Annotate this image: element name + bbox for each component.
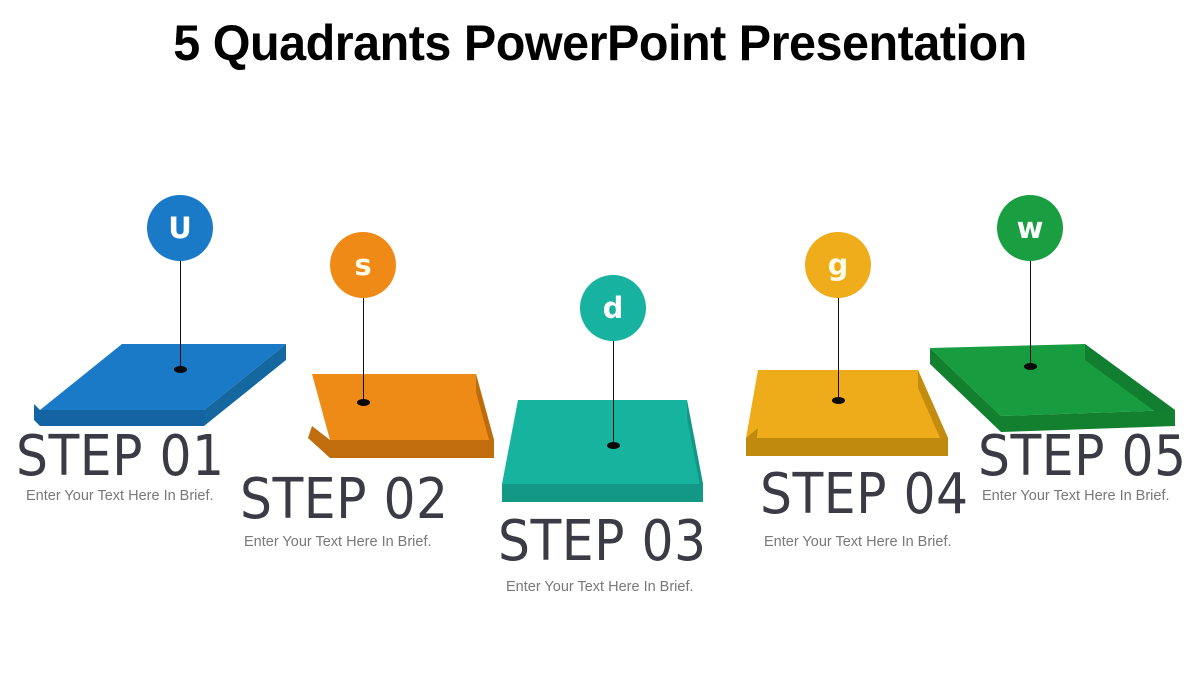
step-3-title: STEP 03: [498, 513, 707, 571]
step-4-connector-line: [838, 288, 839, 401]
step-2-platform: [250, 368, 510, 478]
step-2-platform-front: [330, 440, 494, 458]
step-4-badge[interactable]: g: [805, 232, 871, 298]
step-3-badge[interactable]: d: [580, 275, 646, 341]
step-1-title: STEP 01: [16, 428, 225, 486]
step-3-platform: [500, 396, 740, 511]
step-3-platform-front: [502, 484, 703, 502]
step-3-connector-line: [613, 331, 614, 446]
step-2-description: Enter Your Text Here In Brief.: [244, 533, 432, 551]
step-4-connector-dot: [832, 397, 845, 404]
step-4-platform-front: [746, 438, 948, 456]
step-2-badge-letter: s: [354, 251, 371, 280]
step-2-connector-line: [363, 288, 364, 403]
step-1-description: Enter Your Text Here In Brief.: [26, 487, 214, 505]
step-5-platform-top: [930, 344, 1175, 416]
step-4-badge-letter: g: [828, 251, 849, 280]
step-2-badge[interactable]: s: [330, 232, 396, 298]
step-1-badge[interactable]: U: [147, 195, 213, 261]
step-5-badge-letter: w: [1017, 214, 1044, 243]
step-4-platform-top: [746, 370, 948, 438]
step-5-connector-line: [1030, 249, 1031, 367]
step-3-connector-dot: [607, 442, 620, 449]
step-3-platform-top: [502, 400, 703, 484]
step-5-badge[interactable]: w: [997, 195, 1063, 261]
step-2-title: STEP 02: [240, 471, 449, 529]
slide-canvas: 5 Quadrants PowerPoint Presentation U ST…: [0, 0, 1200, 675]
step-1-badge-letter: U: [168, 214, 192, 243]
step-item-5[interactable]: w STEP 05 Enter Your Text Here In Brief.: [930, 0, 1200, 675]
step-3-description: Enter Your Text Here In Brief.: [506, 578, 694, 596]
step-4-description: Enter Your Text Here In Brief.: [764, 533, 952, 551]
step-1-platform-left: [34, 404, 40, 426]
step-2-connector-dot: [357, 399, 370, 406]
step-5-title: STEP 05: [978, 428, 1187, 486]
step-5-connector-dot: [1024, 363, 1037, 370]
step-2-platform-top: [312, 374, 494, 440]
step-2-platform-left: [308, 426, 330, 458]
step-3-badge-letter: d: [603, 294, 624, 323]
step-1-connector-line: [180, 249, 181, 370]
step-5-description: Enter Your Text Here In Brief.: [982, 487, 1170, 505]
step-1-connector-dot: [174, 366, 187, 373]
